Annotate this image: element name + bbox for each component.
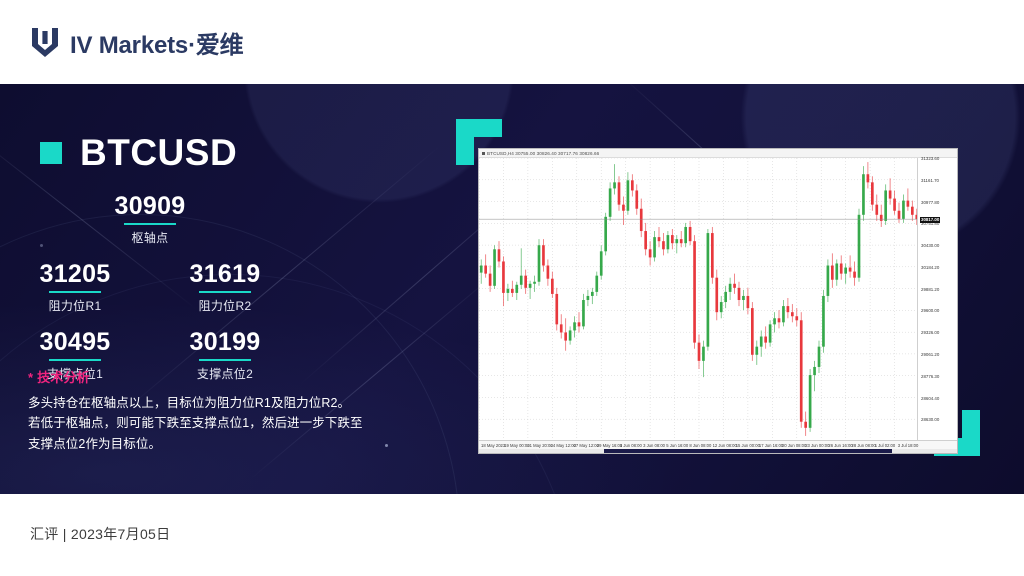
scrollbar-thumb[interactable] [604, 449, 892, 453]
shield-u-icon [30, 25, 60, 59]
brand-name-cn: 爱维 [196, 32, 244, 59]
price-tick-label: 28604.40 [921, 396, 939, 401]
price-tick-label: 31323.60 [921, 156, 939, 161]
level-value: 31619 [150, 260, 300, 288]
brand-logo: IV Markets·爱维 [30, 25, 243, 60]
level-divider [199, 291, 251, 293]
price-tick-label: 28630.00 [921, 417, 939, 422]
analysis-line-2: 若低于枢轴点，则可能下跌至支撑点位1，然后进一步下跌至 [28, 413, 418, 433]
level-divider [49, 359, 101, 361]
price-axis: 31323.6031161.7030977.8030751.8030430.00… [917, 158, 957, 441]
accent-square-icon [40, 142, 62, 164]
instrument-summary: BTCUSD 30909 枢轴点 31205 阻力位R1 31619 阻力位R2 [0, 84, 430, 494]
current-price-tag: 30817.00 [920, 217, 940, 223]
page-title: BTCUSD [80, 132, 237, 174]
analysis-line-3: 支撑点位2作为目标位。 [28, 434, 418, 454]
level-label: 阻力位R1 [0, 297, 150, 314]
level-resistance-2: 31619 阻力位R2 [150, 260, 300, 328]
chart-marker-icon [482, 152, 485, 155]
level-divider [49, 291, 101, 293]
price-tick-label: 29061.20 [921, 352, 939, 357]
level-resistance-1: 31205 阻力位R1 [0, 260, 150, 328]
level-value: 30199 [150, 328, 300, 356]
instrument-title-row: BTCUSD [40, 132, 237, 174]
brand-name: IV Markets·爱维 [70, 25, 243, 60]
price-tick-label: 31161.70 [921, 178, 939, 183]
level-value: 30909 [0, 192, 300, 220]
price-levels: 30909 枢轴点 31205 阻力位R1 31619 阻力位R2 30495 [0, 192, 300, 396]
price-tick-label: 30184.20 [921, 265, 939, 270]
footer-caption: 汇评 | 2023年7月05日 [30, 524, 170, 544]
brand-name-en: IV Markets [70, 32, 188, 59]
level-pivot: 30909 枢轴点 [0, 192, 300, 260]
price-tick-label: 28776.30 [921, 374, 939, 379]
price-tick-label: 29881.20 [921, 287, 939, 292]
page-footer: 汇评 | 2023年7月05日 [0, 494, 1024, 576]
price-tick-label: 29326.00 [921, 330, 939, 335]
price-tick-label: 30430.00 [921, 243, 939, 248]
price-chart[interactable]: BTCUSD,H4 30755.00 30826.40 30717.76 308… [478, 148, 958, 454]
level-value: 31205 [0, 260, 150, 288]
chart-title-text: BTCUSD,H4 30755.00 30826.40 30717.76 308… [487, 151, 599, 156]
level-divider [199, 359, 251, 361]
chart-plot-area[interactable] [479, 158, 919, 441]
level-label: 枢轴点 [0, 229, 300, 246]
candlestick-series [479, 158, 919, 441]
analysis-heading: * 技术分析 [28, 367, 418, 386]
chart-header-label: BTCUSD,H4 30755.00 30826.40 30717.76 308… [479, 149, 957, 158]
level-label: 阻力位R2 [150, 297, 300, 314]
technical-analysis: * 技术分析 多头持仓在枢轴点以上，目标位为阻力位R1及阻力位R2。 若低于枢轴… [28, 367, 418, 454]
level-divider [124, 223, 176, 225]
level-value: 30495 [0, 328, 150, 356]
price-tick-label: 29600.00 [921, 308, 939, 313]
page-header: IV Markets·爱维 [0, 0, 1024, 84]
analysis-line-1: 多头持仓在枢轴点以上，目标位为阻力位R1及阻力位R2。 [28, 393, 418, 413]
chart-scrollbar[interactable] [479, 449, 958, 453]
price-tick-label: 30977.80 [921, 200, 939, 205]
brand-separator: · [188, 32, 196, 59]
